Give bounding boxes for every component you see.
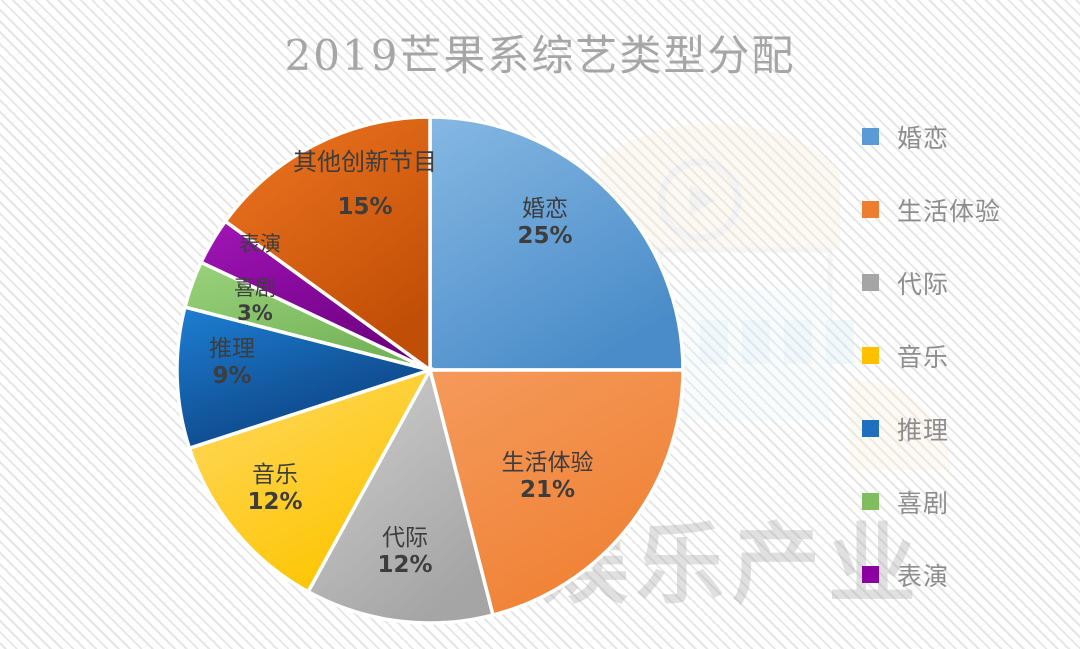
legend-item[interactable]: 表演 xyxy=(862,538,1072,611)
legend-swatch-icon xyxy=(862,566,879,583)
legend-swatch-icon xyxy=(862,274,879,291)
legend-swatch-icon xyxy=(862,128,879,145)
legend-item[interactable]: 喜剧 xyxy=(862,465,1072,538)
legend-swatch-icon xyxy=(862,420,879,437)
legend-item-label: 表演 xyxy=(897,557,949,593)
legend-item[interactable]: 音乐 xyxy=(862,319,1072,392)
legend-item-label: 音乐 xyxy=(897,338,949,374)
legend-item[interactable]: 推理 xyxy=(862,392,1072,465)
legend-item[interactable]: 代际 xyxy=(862,246,1072,319)
legend-swatch-icon xyxy=(862,347,879,364)
pie-chart-figure: 娱乐产业 2019芒果系综艺类型分配 婚恋 25% 生活体验 21% 代际 12… xyxy=(0,0,1080,649)
pie-slice-group xyxy=(177,117,683,623)
chart-legend: 婚恋生活体验代际音乐推理喜剧表演 xyxy=(862,100,1072,611)
legend-item-label: 婚恋 xyxy=(897,119,949,155)
pie-graphic xyxy=(170,110,690,630)
legend-item[interactable]: 生活体验 xyxy=(862,173,1072,246)
legend-item-label: 生活体验 xyxy=(897,192,1001,228)
legend-swatch-icon xyxy=(862,201,879,218)
legend-item[interactable]: 婚恋 xyxy=(862,100,1072,173)
legend-item-label: 喜剧 xyxy=(897,484,949,520)
legend-swatch-icon xyxy=(862,493,879,510)
legend-item-label: 推理 xyxy=(897,411,949,447)
legend-item-label: 代际 xyxy=(897,265,949,301)
chart-title: 2019芒果系综艺类型分配 xyxy=(0,22,1080,83)
pie-slice[interactable] xyxy=(430,117,683,370)
pie-svg xyxy=(170,110,690,630)
